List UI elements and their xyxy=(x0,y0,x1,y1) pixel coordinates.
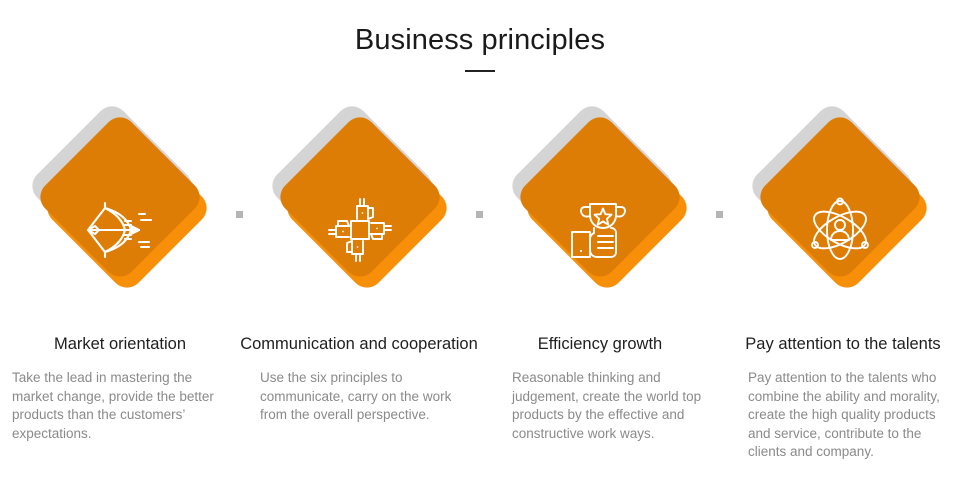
diamond-badge-4 xyxy=(743,120,937,320)
principle-card-pay-attention-talents[interactable]: Pay attention to the talents Pay attenti… xyxy=(720,120,960,495)
principle-body: Take the lead in mastering the market ch… xyxy=(12,369,217,443)
page-title: Business principles xyxy=(0,22,960,58)
principle-body: Pay attention to the talents who combine… xyxy=(748,369,953,462)
principle-card-market-orientation[interactable]: Market orientation Take the lead in mast… xyxy=(0,120,240,495)
principle-heading: Efficiency growth xyxy=(480,333,720,355)
principle-body: Reasonable thinking and judgement, creat… xyxy=(512,369,717,443)
title-divider xyxy=(465,70,495,72)
principle-heading: Pay attention to the talents xyxy=(726,333,960,355)
principle-card-efficiency-growth[interactable]: Efficiency growth Reasonable thinking an… xyxy=(480,120,720,495)
hand-holding-trophy-icon xyxy=(503,175,697,285)
principle-card-communication-cooperation[interactable]: Communication and cooperation Use the si… xyxy=(240,120,480,495)
atom-person-icon xyxy=(743,175,937,285)
diamond-badge-2 xyxy=(263,120,457,320)
principle-body: Use the six principles to communicate, c… xyxy=(260,369,465,425)
bow-and-arrow-icon xyxy=(23,175,217,285)
principle-heading: Communication and cooperation xyxy=(238,333,480,355)
principle-heading: Market orientation xyxy=(0,333,240,355)
four-hands-teamwork-icon xyxy=(263,175,457,285)
diamond-badge-3 xyxy=(503,120,697,320)
page-header: Business principles xyxy=(0,0,960,72)
diamond-badge-1 xyxy=(23,120,217,320)
principles-row: Market orientation Take the lead in mast… xyxy=(0,120,960,495)
